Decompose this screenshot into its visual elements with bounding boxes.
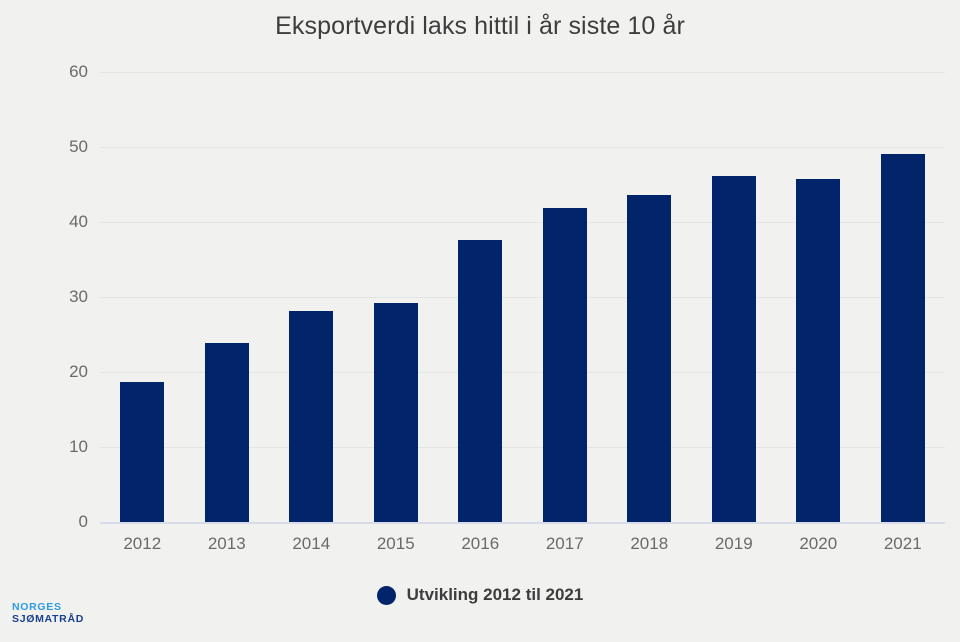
logo-line-1: NORGES — [12, 602, 84, 614]
plot-area — [100, 72, 945, 522]
bar-2015[interactable] — [374, 303, 418, 522]
chart-legend: Utvikling 2012 til 2021 — [0, 585, 960, 605]
norges-sjomatrad-logo: NORGES SJØMATRÅD — [12, 602, 84, 626]
y-tick-label-20: 20 — [28, 362, 88, 382]
x-tick-label-2021: 2021 — [884, 534, 922, 554]
bar-2016[interactable] — [458, 240, 502, 522]
gridline-50 — [100, 147, 945, 148]
x-tick-label-2020: 2020 — [799, 534, 837, 554]
bar-2021[interactable] — [881, 154, 925, 522]
chart-title: Eksportverdi laks hittil i år siste 10 å… — [0, 12, 960, 41]
y-axis-label: Verdi i mrd NOK — [0, 192, 3, 322]
bar-2019[interactable] — [712, 176, 756, 522]
x-tick-label-2019: 2019 — [715, 534, 753, 554]
legend-label: Utvikling 2012 til 2021 — [407, 585, 584, 605]
series-color-dot-icon — [377, 586, 396, 605]
x-tick-label-2014: 2014 — [292, 534, 330, 554]
y-tick-label-40: 40 — [28, 212, 88, 232]
x-tick-label-2016: 2016 — [461, 534, 499, 554]
gridline-60 — [100, 72, 945, 73]
bar-2014[interactable] — [289, 311, 333, 522]
y-tick-label-0: 0 — [28, 512, 88, 532]
y-tick-label-30: 30 — [28, 287, 88, 307]
bar-2017[interactable] — [543, 208, 587, 522]
x-tick-label-2012: 2012 — [123, 534, 161, 554]
bar-2013[interactable] — [205, 343, 249, 522]
x-tick-label-2013: 2013 — [208, 534, 246, 554]
bar-2018[interactable] — [627, 195, 671, 522]
bar-2012[interactable] — [120, 382, 164, 522]
y-tick-label-50: 50 — [28, 137, 88, 157]
x-tick-label-2018: 2018 — [630, 534, 668, 554]
chart-container: Eksportverdi laks hittil i år siste 10 å… — [0, 0, 960, 642]
bar-2020[interactable] — [796, 179, 840, 522]
gridline-0 — [100, 522, 945, 524]
logo-line-2: SJØMATRÅD — [12, 614, 84, 626]
x-tick-label-2017: 2017 — [546, 534, 584, 554]
y-tick-label-60: 60 — [28, 62, 88, 82]
y-tick-label-10: 10 — [28, 437, 88, 457]
x-tick-label-2015: 2015 — [377, 534, 415, 554]
